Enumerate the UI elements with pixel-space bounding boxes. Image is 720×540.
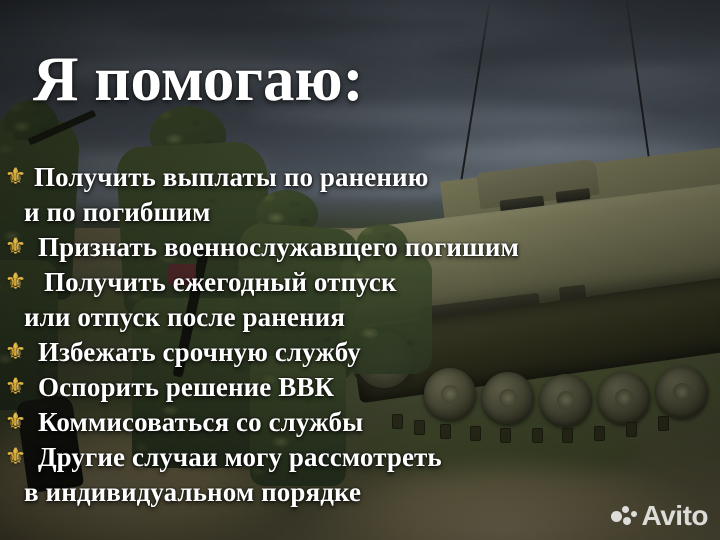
fleur-de-lis-icon: ⚜ <box>0 410 30 433</box>
avito-watermark: Avito <box>611 502 708 530</box>
text-overlay: Я помогаю: ⚜ Получить выплаты по ранению… <box>0 0 720 540</box>
list-item-label: Избежать срочную службу <box>38 339 361 366</box>
list-item-label: или отпуск после ранения <box>24 304 345 331</box>
list-item-label: Признать военнослужавщего погишим <box>38 234 519 261</box>
list-item-label: Другие случаи могу рассмотреть <box>38 444 442 471</box>
list-item: ⚜ Избежать срочную службу <box>0 339 720 374</box>
banner-image: 268 268 <box>0 0 720 540</box>
avito-dots-icon <box>611 505 637 527</box>
fleur-de-lis-icon: ⚜ <box>0 235 30 258</box>
fleur-de-lis-icon: ⚜ <box>0 270 30 293</box>
fleur-de-lis-icon: ⚜ <box>0 340 30 363</box>
list-item-label: Получить ежегодный отпуск <box>44 269 397 296</box>
services-list: ⚜ Получить выплаты по ранению и по погиб… <box>0 164 720 514</box>
list-item: ⚜ Признать военнослужавщего погишим <box>0 234 720 269</box>
avito-wordmark: Avito <box>642 502 708 530</box>
list-item-label: в индивидуальном порядке <box>24 479 361 506</box>
list-item-label: Оспорить решение ВВК <box>38 374 334 401</box>
list-item-label: Коммисоваться со службы <box>38 409 363 436</box>
fleur-de-lis-icon: ⚜ <box>0 165 30 188</box>
list-item-continuation: и по погибшим <box>0 199 720 234</box>
list-item-label: Получить выплаты по ранению <box>34 164 428 191</box>
list-item: ⚜ Коммисоваться со службы <box>0 409 720 444</box>
fleur-de-lis-icon: ⚜ <box>0 375 30 398</box>
list-item: ⚜ Получить ежегодный отпуск <box>0 269 720 304</box>
list-item: ⚜ Другие случаи могу рассмотреть <box>0 444 720 479</box>
page-title: Я помогаю: <box>33 48 364 111</box>
list-item-continuation: или отпуск после ранения <box>0 304 720 339</box>
list-item: ⚜ Получить выплаты по ранению <box>0 164 720 199</box>
list-item-label: и по погибшим <box>24 199 211 226</box>
list-item: ⚜ Оспорить решение ВВК <box>0 374 720 409</box>
fleur-de-lis-icon: ⚜ <box>0 445 30 468</box>
